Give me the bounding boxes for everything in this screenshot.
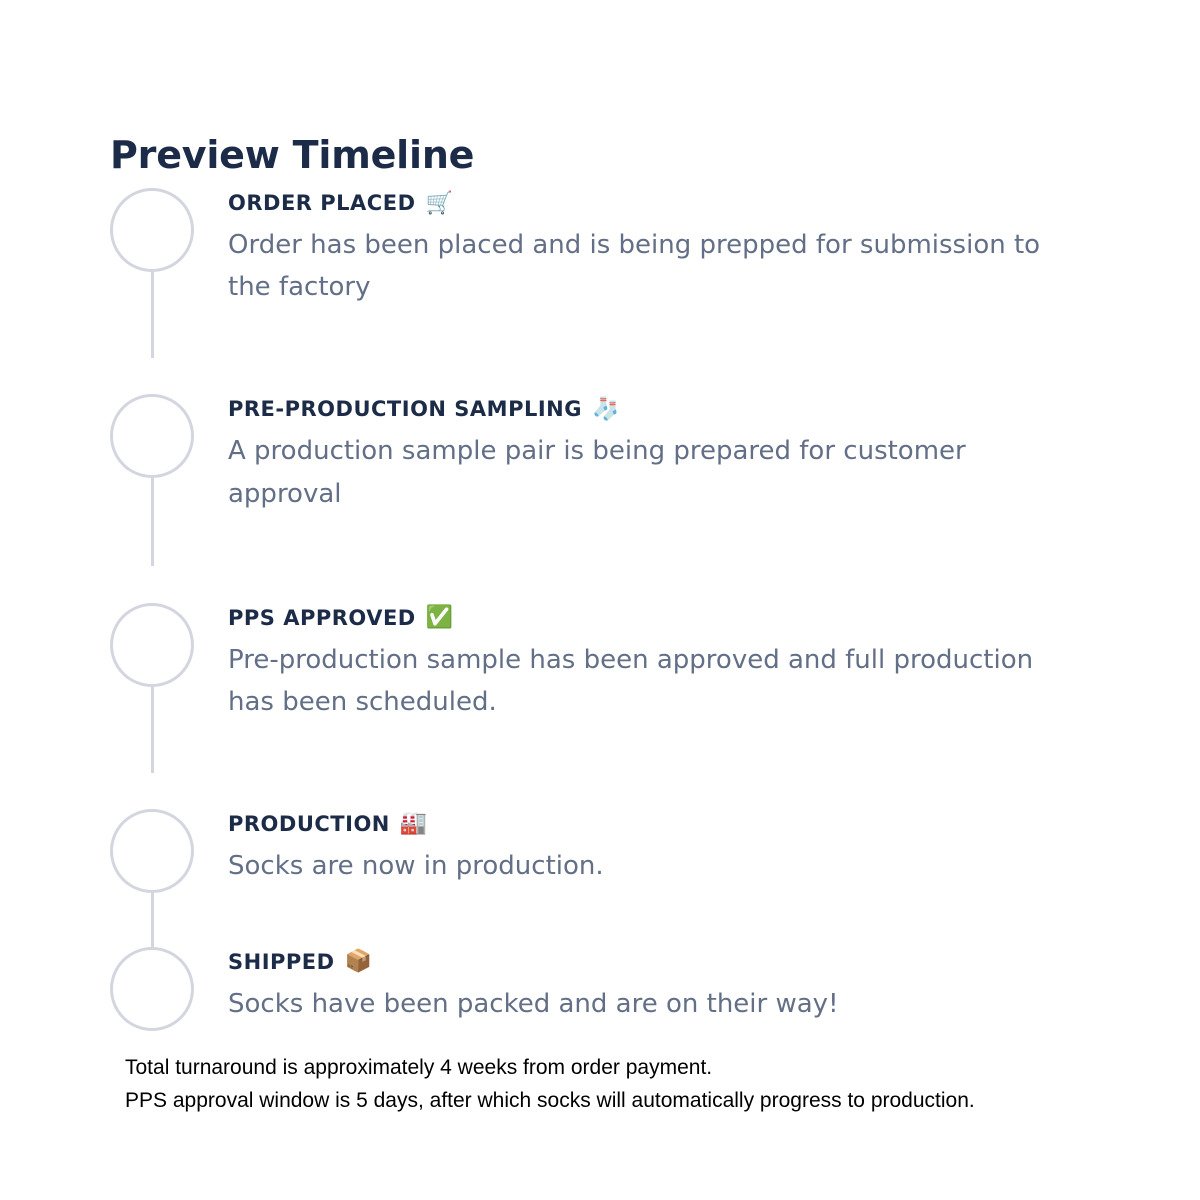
timeline-item-label: SHIPPED 📦 [228,951,1110,974]
timeline-item-pre-production-sampling[interactable]: PRE-PRODUCTION SAMPLING 🧦 A production s… [110,394,1110,514]
timeline-item-production[interactable]: PRODUCTION 🏭 Socks are now in production… [110,809,1110,893]
footer-note: Total turnaround is approximately 4 week… [125,1052,975,1117]
timeline-item-description: Order has been placed and is being prepp… [228,224,1063,308]
timeline-item-shipped[interactable]: SHIPPED 📦 Socks have been packed and are… [110,947,1110,1031]
timeline-marker [110,394,194,478]
timeline-step-circle [110,809,194,893]
timeline-marker [110,809,194,893]
factory-icon: 🏭 [400,813,428,835]
timeline-connector-line [151,893,154,947]
timeline-marker [110,188,194,272]
timeline-step-circle [110,394,194,478]
timeline-content: PRE-PRODUCTION SAMPLING 🧦 A production s… [194,394,1110,514]
timeline-item-order-placed[interactable]: ORDER PLACED 🛒 Order has been placed and… [110,188,1110,308]
footer-note-line-1: Total turnaround is approximately 4 week… [125,1052,975,1085]
timeline-item-label: PRODUCTION 🏭 [228,813,1110,836]
timeline-connector-line [151,478,154,566]
timeline-marker [110,947,194,1031]
socks-icon: 🧦 [592,399,620,421]
timeline-item-description: Socks have been packed and are on their … [228,983,1063,1025]
timeline-label-text: SHIPPED [228,951,335,974]
timeline-item-pps-approved[interactable]: PPS APPROVED ✅ Pre-production sample has… [110,603,1110,723]
timeline-content: PPS APPROVED ✅ Pre-production sample has… [194,603,1110,723]
timeline-step-circle [110,947,194,1031]
timeline-content: SHIPPED 📦 Socks have been packed and are… [194,947,1110,1025]
shopping-cart-icon: 🛒 [426,193,454,215]
timeline-label-text: PRE-PRODUCTION SAMPLING [228,398,582,421]
timeline-content: ORDER PLACED 🛒 Order has been placed and… [194,188,1110,308]
package-icon: 📦 [345,951,373,973]
timeline-item-description: Pre-production sample has been approved … [228,639,1063,723]
page-title: Preview Timeline [110,133,474,179]
timeline-content: PRODUCTION 🏭 Socks are now in production… [194,809,1110,887]
timeline-item-description: A production sample pair is being prepar… [228,430,1063,514]
timeline-label-text: PRODUCTION [228,813,390,836]
green-check-icon: ✅ [426,607,454,629]
timeline-connector-line [151,687,154,773]
timeline-item-description: Socks are now in production. [228,845,1063,887]
timeline-item-label: PPS APPROVED ✅ [228,607,1110,630]
footer-note-line-2: PPS approval window is 5 days, after whi… [125,1085,975,1118]
timeline-step-circle [110,188,194,272]
timeline-marker [110,603,194,687]
timeline-list: ORDER PLACED 🛒 Order has been placed and… [110,188,1110,1031]
timeline-label-text: PPS APPROVED [228,607,416,630]
timeline-item-label: ORDER PLACED 🛒 [228,192,1110,215]
timeline-step-circle [110,603,194,687]
preview-timeline-page: Preview Timeline ORDER PLACED 🛒 Order ha… [0,0,1200,1200]
timeline-item-label: PRE-PRODUCTION SAMPLING 🧦 [228,398,1110,421]
timeline-connector-line [151,272,154,358]
timeline-label-text: ORDER PLACED [228,192,416,215]
